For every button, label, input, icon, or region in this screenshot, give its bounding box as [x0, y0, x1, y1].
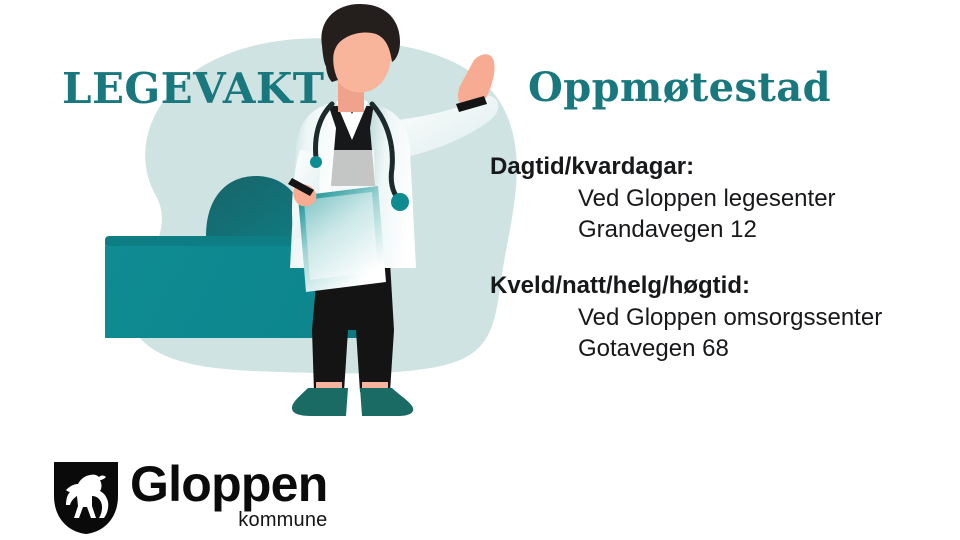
logo-wordmark: Gloppen kommune [130, 460, 328, 530]
info-group-afterhours: Kveld/natt/helg/høgtid: Ved Gloppen omso… [490, 271, 950, 364]
gloppen-coat-of-arms-horse-icon [52, 460, 120, 536]
logo-name: Gloppen [130, 460, 328, 508]
info-line-daytime-place: Ved Gloppen legesenter [490, 183, 950, 214]
gloppen-kommune-logo: Gloppen kommune [52, 460, 328, 536]
logo-subtitle: kommune [238, 510, 327, 530]
info-line-afterhours-address: Gotavegen 68 [490, 333, 950, 364]
info-heading-afterhours: Kveld/natt/helg/høgtid: [490, 271, 950, 302]
slide-canvas: LEGEVAKT Oppmøtestad Dagtid/kvardagar: V… [0, 0, 960, 540]
info-line-daytime-address: Grandavegen 12 [490, 214, 950, 245]
shoe-left [292, 388, 348, 416]
shoe-right [360, 388, 413, 416]
info-heading-daytime: Dagtid/kvardagar: [490, 152, 950, 183]
attendance-info-block: Dagtid/kvardagar: Ved Gloppen legesenter… [490, 152, 950, 364]
page-title-legevakt: LEGEVAKT [62, 68, 324, 110]
info-line-afterhours-place: Ved Gloppen omsorgssenter [490, 302, 950, 333]
info-group-daytime: Dagtid/kvardagar: Ved Gloppen legesenter… [490, 152, 950, 245]
page-title-oppmotestad: Oppmøtestad [528, 68, 831, 108]
